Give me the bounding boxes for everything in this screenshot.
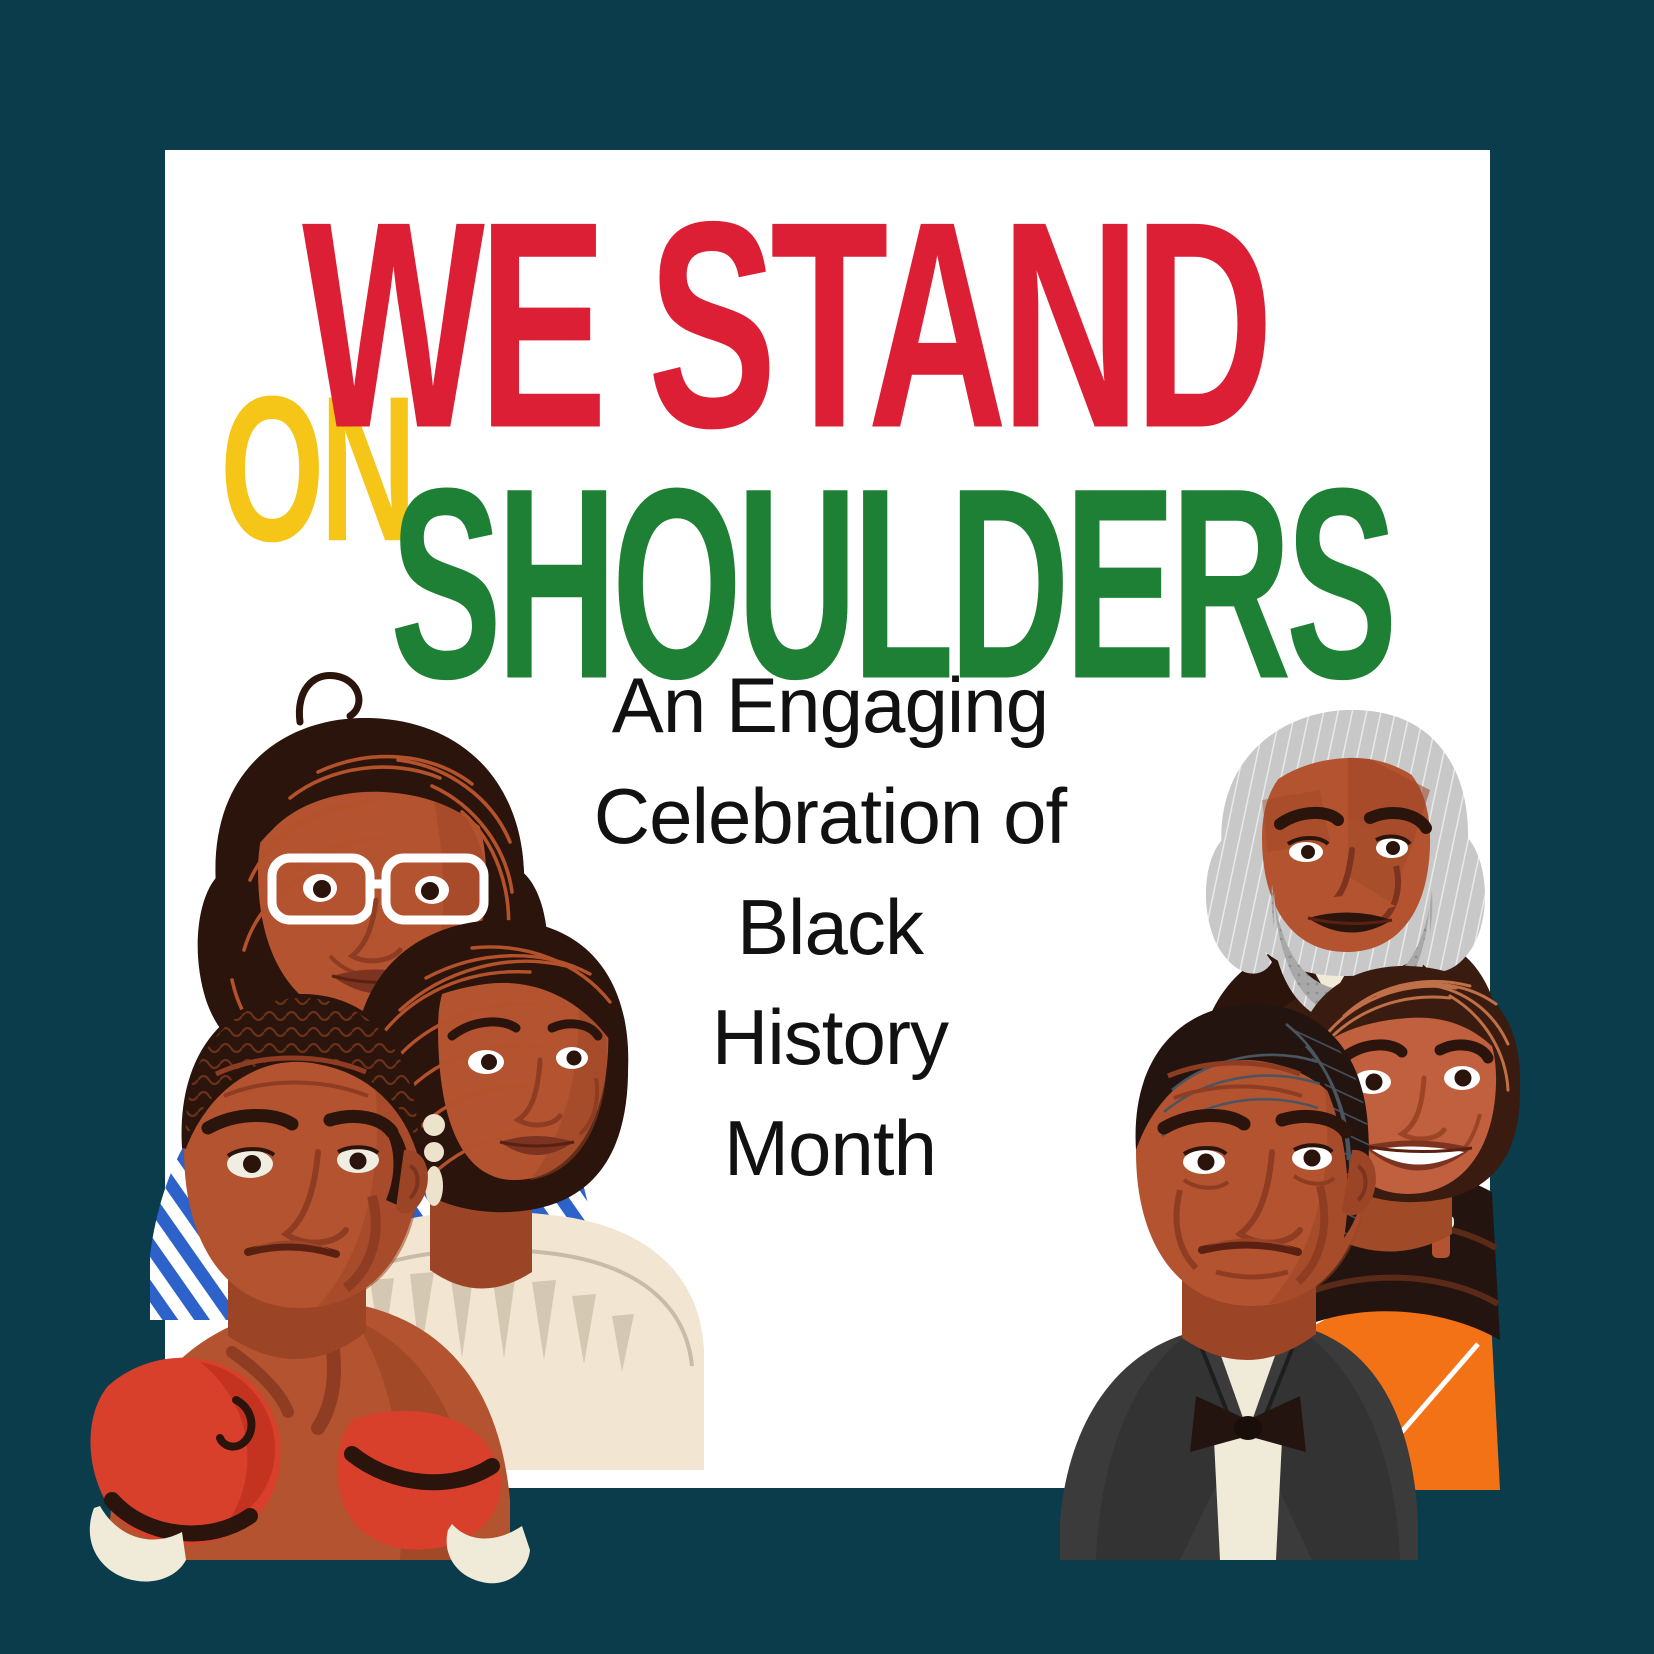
poster-canvas: ON WE STAND SHOULDERS An Engaging Celebr… — [0, 0, 1654, 1654]
subtitle-line-2: Celebration of — [470, 761, 1190, 872]
subtitle-line-3: Black — [470, 872, 1190, 983]
subtitle-line-1: An Engaging — [470, 650, 1190, 761]
poster-subtitle: An Engaging Celebration of Black History… — [470, 650, 1190, 1204]
subtitle-line-4: History — [470, 982, 1190, 1093]
subtitle-line-5: Month — [470, 1093, 1190, 1204]
